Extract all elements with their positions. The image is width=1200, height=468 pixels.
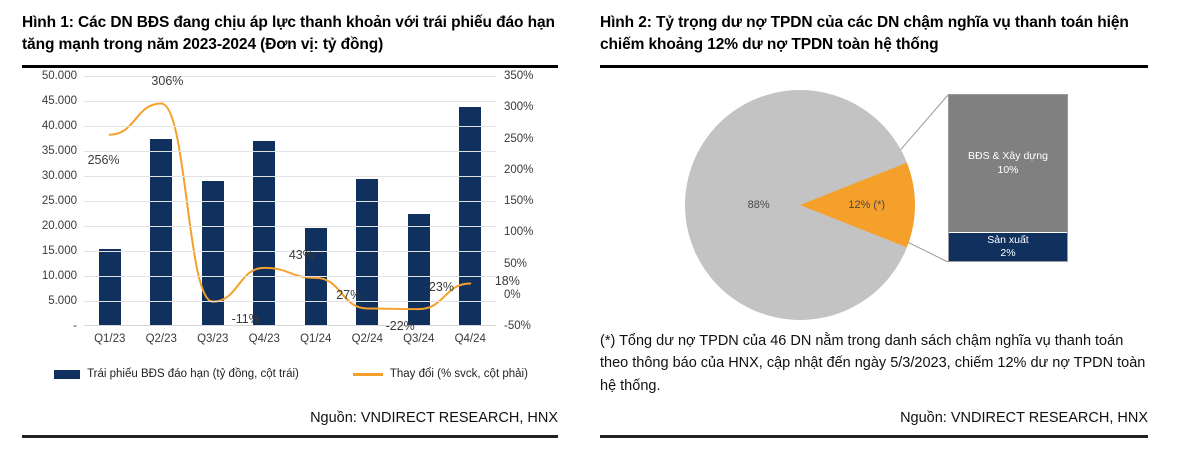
line-data-label: -22% xyxy=(386,319,415,333)
y2-axis-tick-label: 200% xyxy=(504,164,533,176)
figure-2-chart: 88% 12% (*) BĐS & Xây dựng 10% Sản xuất … xyxy=(600,78,1180,328)
y2-axis-tick-label: 50% xyxy=(504,258,527,270)
breakdown-value-real-estate: 10% xyxy=(997,164,1018,178)
gridline xyxy=(84,276,496,277)
legend-line-label: Thay đổi (% svck, cột phải) xyxy=(390,368,528,380)
line-data-label: 306% xyxy=(151,74,183,88)
gridline xyxy=(84,76,496,77)
figure-2-footnote: (*) Tổng dư nợ TPDN của 46 DN nằm trong … xyxy=(600,330,1148,397)
figure-1-top-rule xyxy=(22,65,558,68)
x-axis-tick-label: Q4/24 xyxy=(445,333,497,345)
line-data-label: -11% xyxy=(232,312,260,326)
y2-axis-tick-label: 150% xyxy=(504,195,533,207)
y2-axis-tick-label: 350% xyxy=(504,70,533,82)
figure-2-title: Hình 2: Tỷ trọng dư nợ TPDN của các DN c… xyxy=(600,0,1180,57)
x-axis-tick-label: Q2/24 xyxy=(342,333,394,345)
y2-axis-tick-label: 0% xyxy=(504,289,521,301)
y-axis-tick-label: 25.000 xyxy=(42,195,77,207)
x-axis-tick-label: Q2/23 xyxy=(136,333,188,345)
figure-2-top-rule xyxy=(600,65,1148,68)
x-axis-tick-label: Q3/23 xyxy=(187,333,239,345)
line-data-label: 18% xyxy=(495,274,520,288)
figure-1-plot-area: Q1/23Q2/23Q3/23Q4/23Q1/24Q2/24Q3/24Q4/24… xyxy=(84,76,496,326)
y-axis-tick-label: - xyxy=(73,320,77,332)
y-axis-tick-label: 15.000 xyxy=(42,245,77,257)
pie-label-majority: 88% xyxy=(748,199,770,211)
figure-2-panel: Hình 2: Tỷ trọng dư nợ TPDN của các DN c… xyxy=(600,0,1180,468)
breakdown-segment-real-estate: BĐS & Xây dựng 10% xyxy=(949,95,1067,233)
pie-label-minority: 12% (*) xyxy=(848,199,885,211)
breakdown-segment-manufacturing: Sản xuất 2% xyxy=(949,232,1067,261)
gridline xyxy=(84,301,496,302)
y-axis-tick-label: 5.000 xyxy=(48,295,77,307)
figures-page: Hình 1: Các DN BĐS đang chịu áp lực than… xyxy=(0,0,1200,468)
line-data-label: 256% xyxy=(88,153,120,167)
legend-line-swatch-icon xyxy=(353,373,383,376)
y2-axis-tick-label: -50% xyxy=(504,320,531,332)
line-data-label: 43% xyxy=(289,248,314,262)
x-axis-tick-label: Q3/24 xyxy=(393,333,445,345)
y-axis-tick-label: 20.000 xyxy=(42,220,77,232)
legend-item-line: Thay đổi (% svck, cột phải) xyxy=(353,368,528,380)
figure-2-breakdown-bar: BĐS & Xây dựng 10% Sản xuất 2% xyxy=(948,94,1068,262)
x-axis-tick-label: Q4/23 xyxy=(239,333,291,345)
gridline xyxy=(84,101,496,102)
gridline xyxy=(84,126,496,127)
y-axis-tick-label: 45.000 xyxy=(42,95,77,107)
line-data-label: -23% xyxy=(425,280,454,294)
y-axis-tick-label: 40.000 xyxy=(42,120,77,132)
figure-2-source: Nguồn: VNDIRECT RESEARCH, HNX xyxy=(900,410,1148,426)
figure-1-legend: Trái phiếu BĐS đáo hạn (tỷ đồng, cột trá… xyxy=(22,368,560,380)
legend-bar-swatch-icon xyxy=(54,370,80,379)
line-path xyxy=(110,104,471,310)
y-axis-tick-label: 10.000 xyxy=(42,270,77,282)
y2-axis-tick-label: 300% xyxy=(504,101,533,113)
x-axis-tick-label: Q1/24 xyxy=(290,333,342,345)
figure-1-chart: Q1/23Q2/23Q3/23Q4/23Q1/24Q2/24Q3/24Q4/24… xyxy=(22,70,560,360)
breakdown-label-real-estate: BĐS & Xây dựng xyxy=(968,150,1048,164)
y2-axis-tick-label: 100% xyxy=(504,226,533,238)
breakdown-value-manufacturing: 2% xyxy=(1000,247,1015,261)
breakdown-label-manufacturing: Sản xuất xyxy=(987,234,1028,248)
legend-item-bars: Trái phiếu BĐS đáo hạn (tỷ đồng, cột trá… xyxy=(54,368,299,380)
figure-1-source: Nguồn: VNDIRECT RESEARCH, HNX xyxy=(310,410,558,426)
y-axis-tick-label: 35.000 xyxy=(42,145,77,157)
figure-1-title: Hình 1: Các DN BĐS đang chịu áp lực than… xyxy=(0,0,580,57)
x-axis-tick-label: Q1/23 xyxy=(84,333,136,345)
gridline xyxy=(84,176,496,177)
line-data-label: 27% xyxy=(336,288,361,302)
figure-1-panel: Hình 1: Các DN BĐS đang chịu áp lực than… xyxy=(0,0,580,468)
gridline xyxy=(84,201,496,202)
y-axis-tick-label: 30.000 xyxy=(42,170,77,182)
y-axis-tick-label: 50.000 xyxy=(42,70,77,82)
gridline xyxy=(84,151,496,152)
figure-1-axis-baseline xyxy=(84,325,496,326)
legend-bar-label: Trái phiếu BĐS đáo hạn (tỷ đồng, cột trá… xyxy=(87,368,299,380)
figure-1-bottom-rule xyxy=(22,435,558,438)
gridline xyxy=(84,226,496,227)
figure-2-pie: 88% 12% (*) xyxy=(685,90,915,320)
y2-axis-tick-label: 250% xyxy=(504,133,533,145)
figure-2-bottom-rule xyxy=(600,435,1148,438)
